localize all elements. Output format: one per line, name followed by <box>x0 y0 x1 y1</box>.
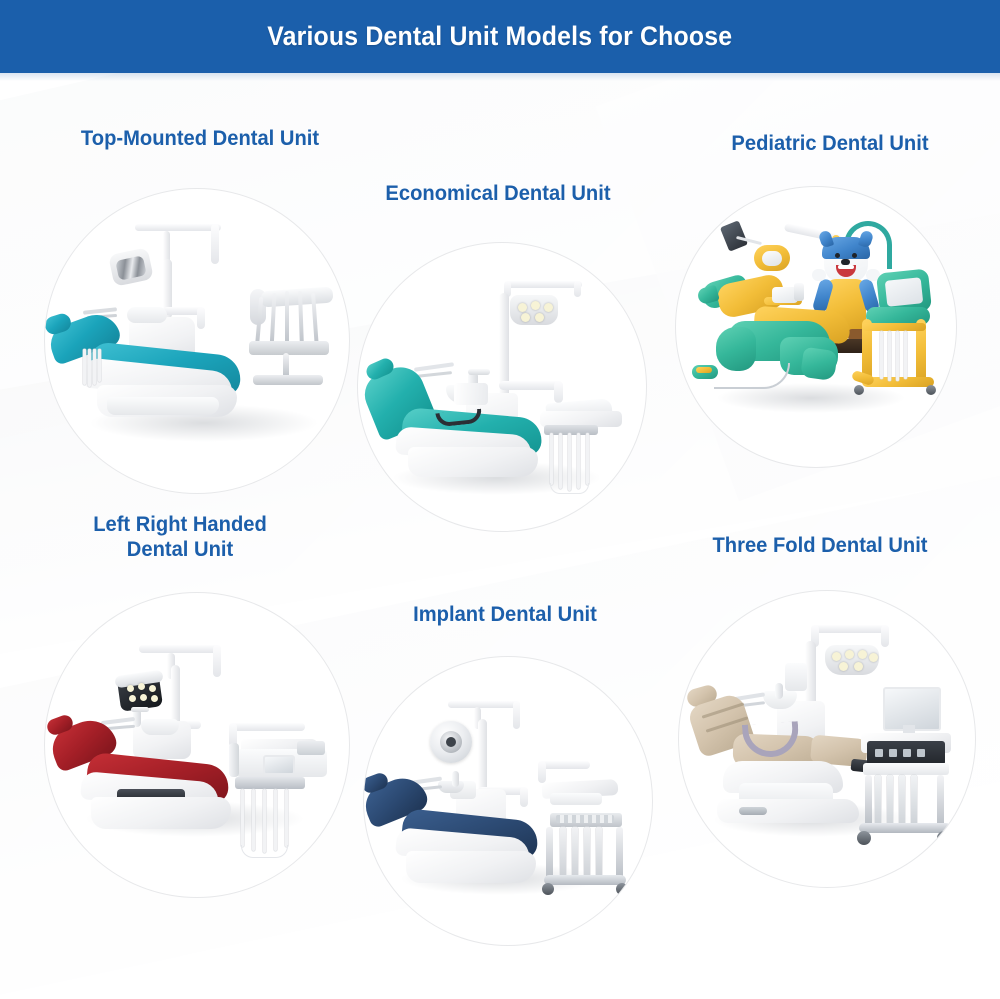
product-image-implant <box>364 657 652 945</box>
label-implant: Implant Dental Unit <box>385 602 625 627</box>
header-shadow <box>0 73 1000 81</box>
product-image-pediatric <box>676 187 956 467</box>
product-image-left-right-handed <box>45 593 349 897</box>
label-top-mounted: Top-Mounted Dental Unit <box>27 126 373 151</box>
product-image-three-fold <box>679 591 975 887</box>
product-circle-economical[interactable] <box>357 242 647 532</box>
label-economical: Economical Dental Unit <box>354 181 642 206</box>
label-three-fold: Three Fold Dental Unit <box>676 533 964 558</box>
product-circle-left-right-handed[interactable] <box>44 592 350 898</box>
product-image-economical <box>358 243 646 531</box>
product-circle-top-mounted[interactable] <box>44 188 350 494</box>
product-circle-pediatric[interactable] <box>675 186 957 468</box>
product-circle-implant[interactable] <box>363 656 653 946</box>
product-image-top-mounted <box>45 189 349 493</box>
label-left-right-handed: Left Right Handed Dental Unit <box>36 512 324 562</box>
header-banner: Various Dental Unit Models for Choose <box>0 0 1000 73</box>
label-pediatric: Pediatric Dental Unit <box>686 131 974 156</box>
product-circle-three-fold[interactable] <box>678 590 976 888</box>
poster: Various Dental Unit Models for Choose To… <box>0 0 1000 999</box>
page-title: Various Dental Unit Models for Choose <box>267 21 732 52</box>
